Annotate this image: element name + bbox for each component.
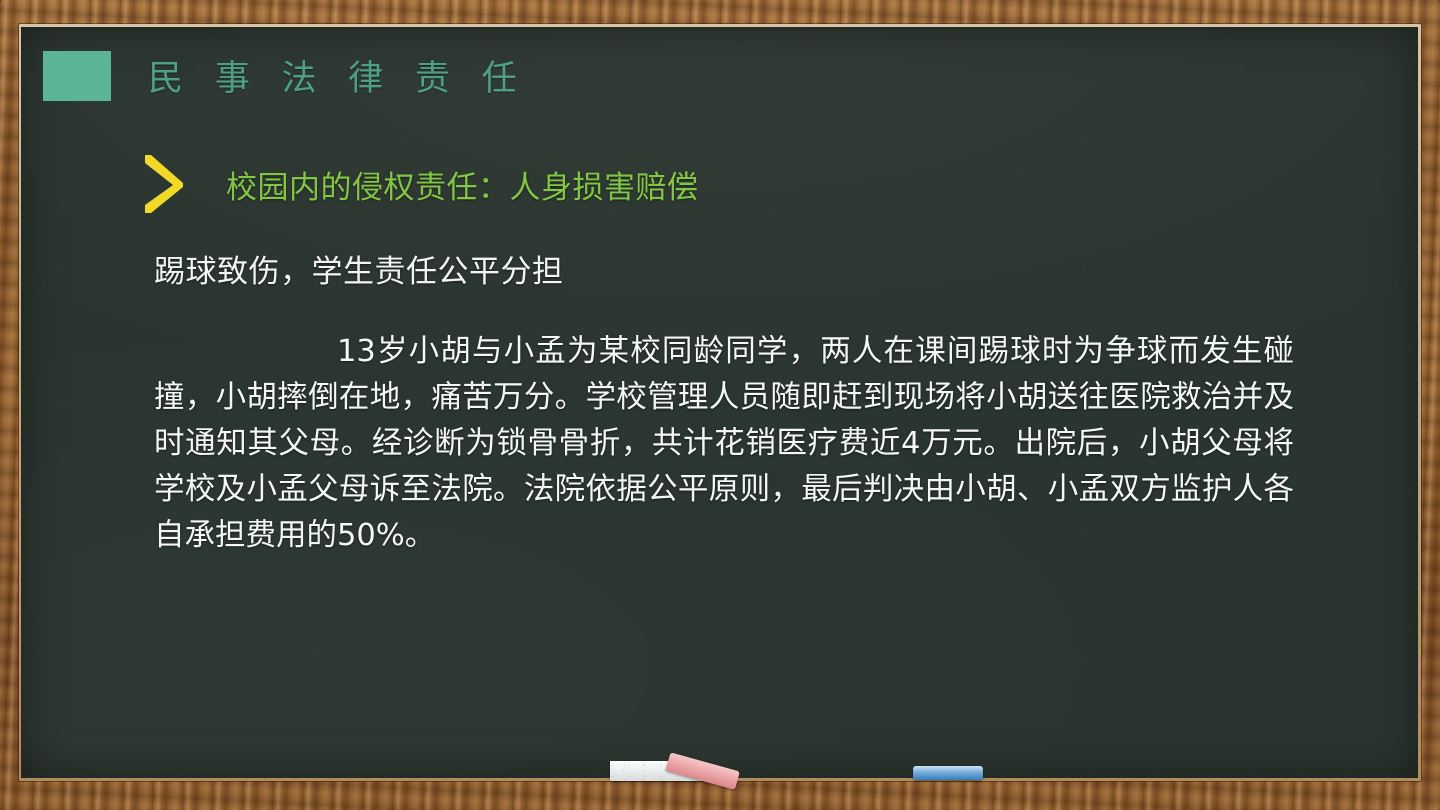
chalkboard-surface: 民 事 法 律 责 任 校园内的侵权责任：人身损害赔偿 踢球致伤，学生责任公平分… — [21, 27, 1418, 778]
page-title: 民 事 法 律 责 任 — [148, 50, 528, 101]
chevron-right-icon — [141, 153, 187, 215]
case-paragraph: 13岁小胡与小孟为某校同龄同学，两人在课间踢球时为争球而发生碰撞，小胡摔倒在地，… — [154, 329, 1294, 559]
case-lead-line: 踢球致伤，学生责任公平分担 — [154, 246, 564, 291]
header: 民 事 法 律 责 任 — [43, 50, 528, 101]
blue-chalk-icon — [913, 766, 983, 780]
teal-square-badge-icon — [43, 51, 111, 101]
section-heading-row: 校园内的侵权责任：人身损害赔偿 — [141, 153, 699, 215]
slide-root: 民 事 法 律 责 任 校园内的侵权责任：人身损害赔偿 踢球致伤，学生责任公平分… — [0, 0, 1440, 810]
section-subtitle: 校园内的侵权责任：人身损害赔偿 — [226, 162, 699, 207]
